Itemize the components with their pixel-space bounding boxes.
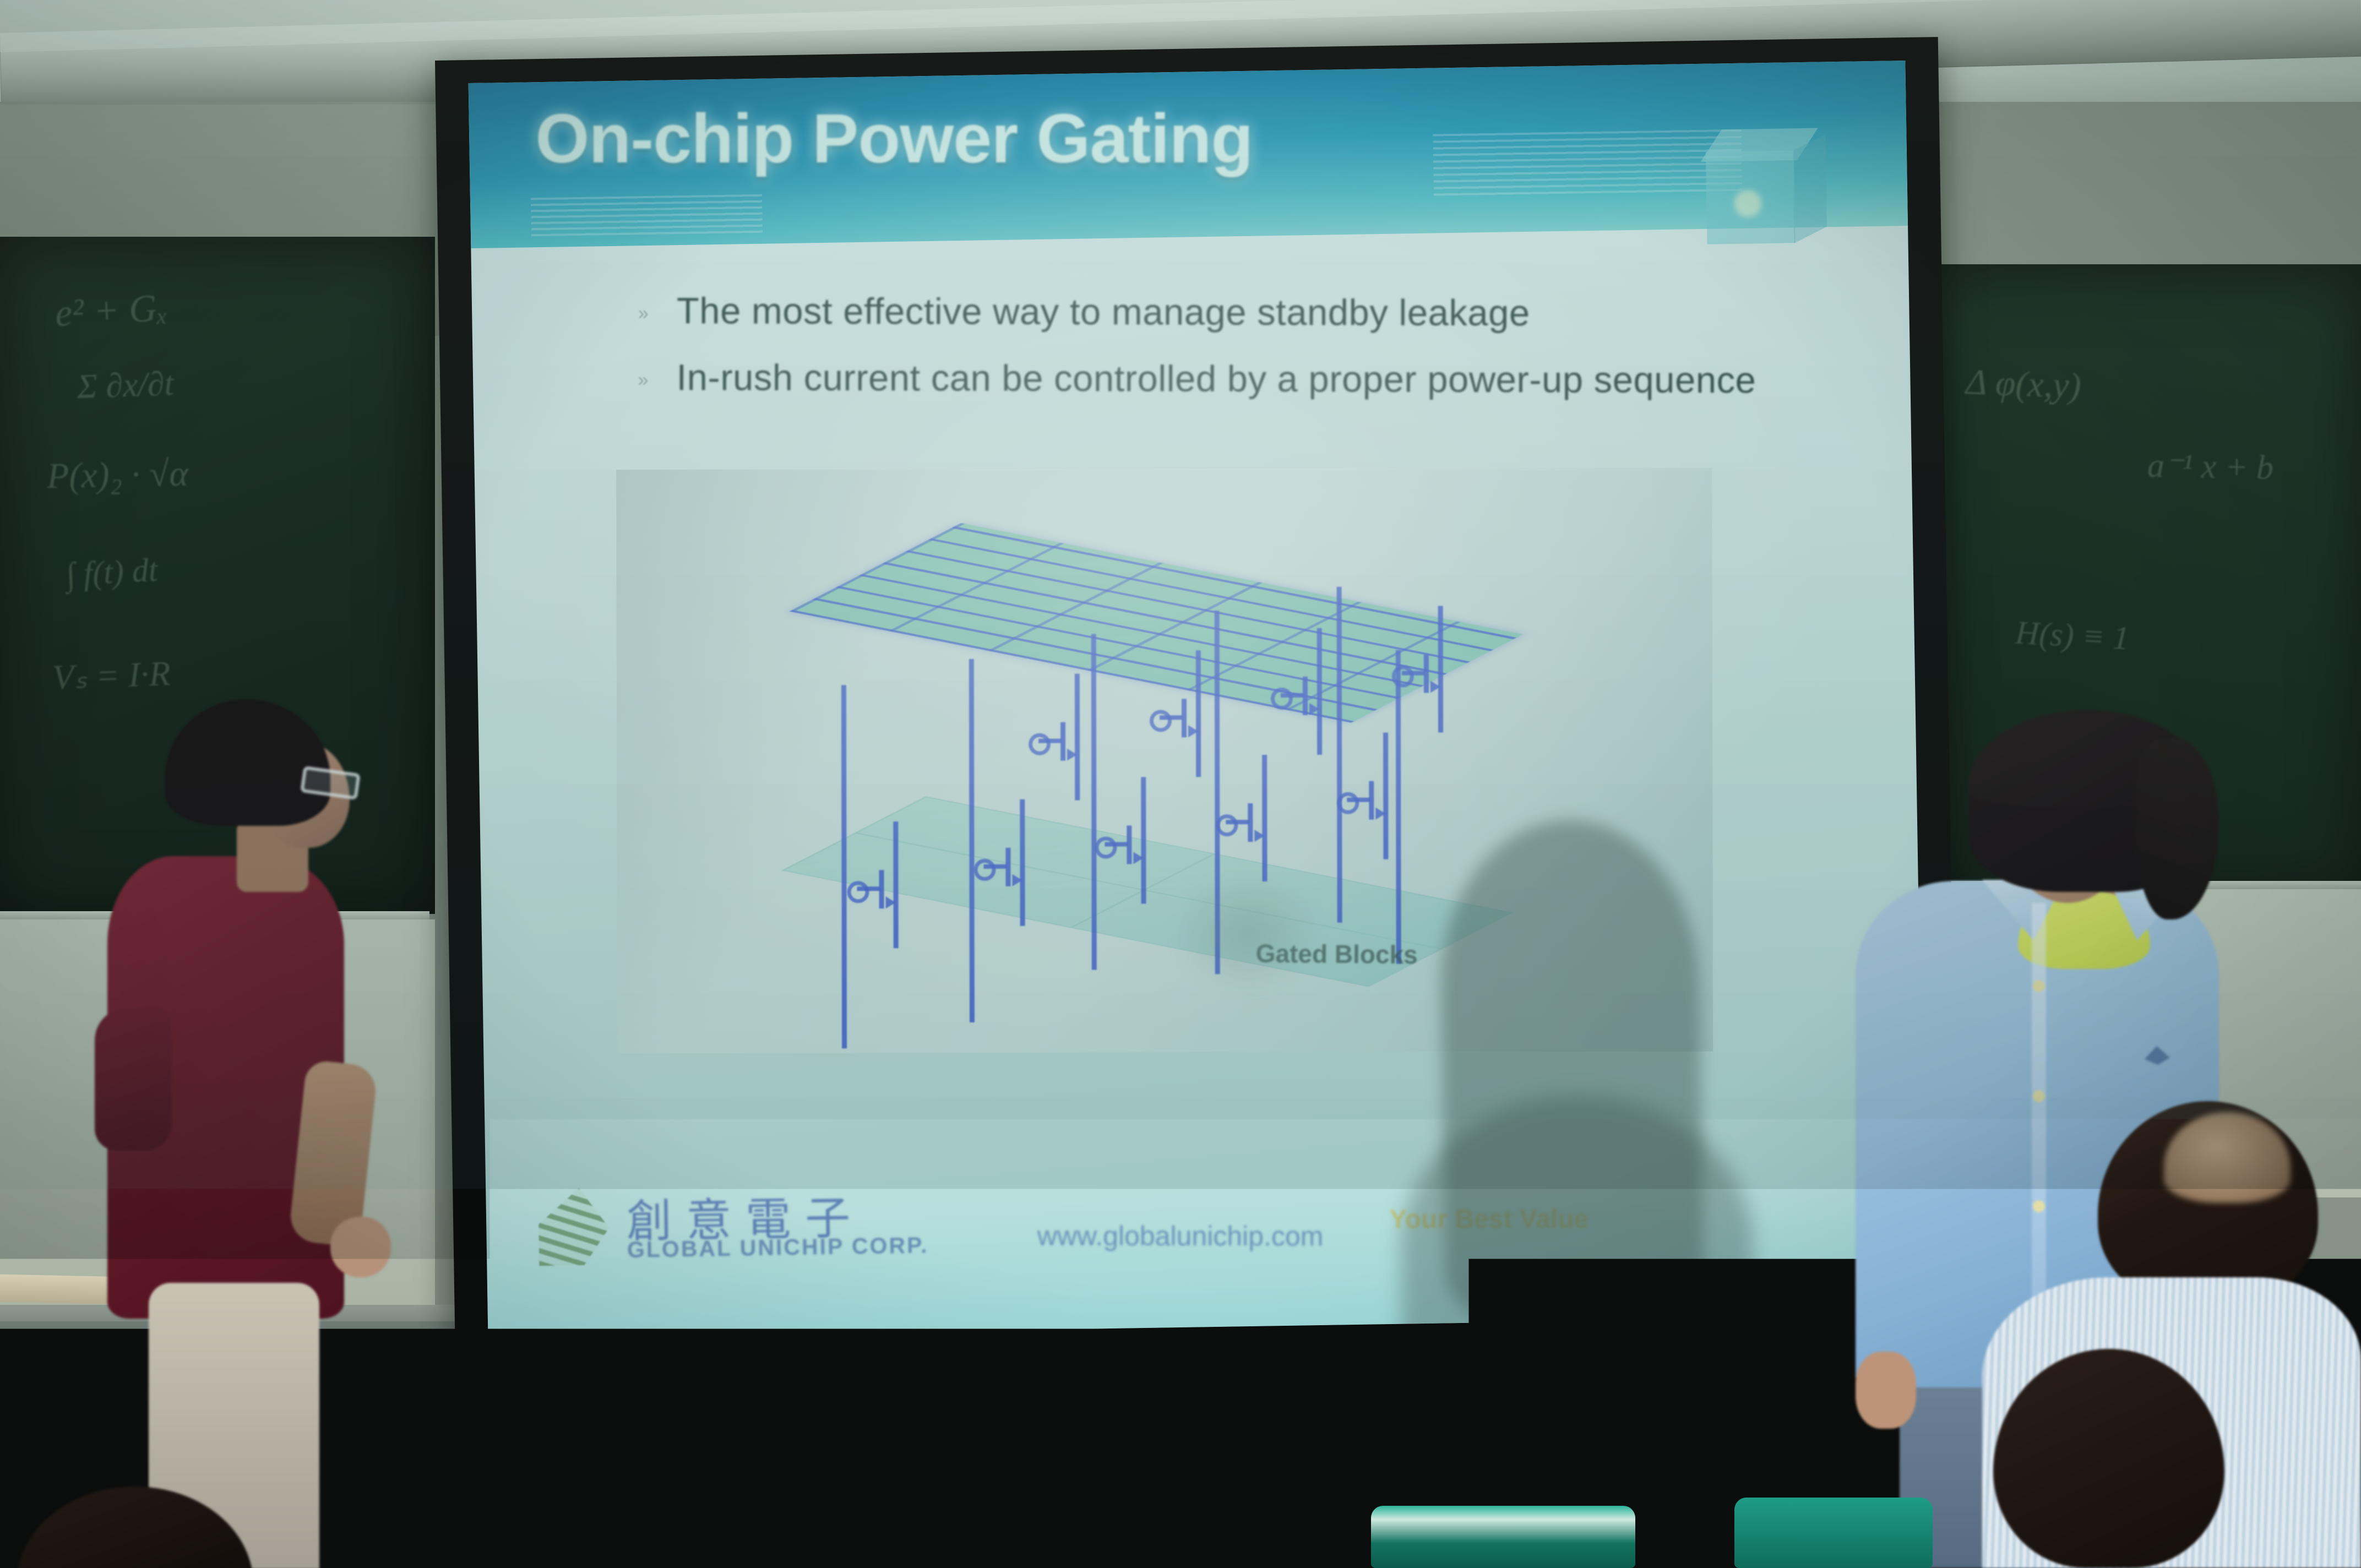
chalk-line: Vₛ = I·R xyxy=(52,653,171,698)
power-rail-drop xyxy=(969,659,975,1022)
company-name-en: GLOBAL UNICHIP CORP. xyxy=(627,1232,929,1263)
guc-logo-icon xyxy=(538,1188,610,1266)
power-switch-transistor xyxy=(980,799,1063,926)
lecture-hall-photo: e² + Gₓ Σ ∂x/∂t P(x)₂ · √α ∫ f(t) dt Vₛ … xyxy=(0,0,2361,1568)
power-switch-transistor xyxy=(1343,733,1426,859)
projection-screen-frame: On-chip Power Gating » The most effectiv… xyxy=(435,37,1959,1382)
bullet-marker-icon: » xyxy=(638,371,657,389)
cube-logo-icon xyxy=(1705,128,1845,257)
chalk-line: Σ ∂x/∂t xyxy=(77,364,175,407)
chair xyxy=(1030,1511,1266,1568)
header-hatch-left-icon xyxy=(531,194,763,237)
power-switch-transistor xyxy=(1222,755,1305,881)
power-rail-drop xyxy=(841,685,847,1048)
bullet-text: The most effective way to manage standby… xyxy=(677,290,1530,334)
power-switch-transistor xyxy=(853,821,936,948)
slide-title: On-chip Power Gating xyxy=(535,99,1253,178)
chalk-line: H(s) ≡ 1 xyxy=(2014,614,2130,658)
bullet-marker-icon: » xyxy=(638,304,657,323)
company-url: www.globalunichip.com xyxy=(1037,1220,1324,1253)
chalk-line: Δ φ(x,y) xyxy=(1965,361,2082,407)
bullet-item: » In-rush current can be controlled by a… xyxy=(638,356,1849,402)
screen-stand-foot xyxy=(405,1368,466,1391)
chalk-line: P(x)₂ · √α xyxy=(46,453,188,497)
bullet-text: In-rush current can be controlled by a p… xyxy=(676,356,1756,401)
chalk-line: a⁻¹ x + b xyxy=(2147,445,2273,488)
presentation-slide: On-chip Power Gating » The most effectiv… xyxy=(469,61,1925,1338)
chalk-line: ∫ f(t) dt xyxy=(65,551,159,594)
chair xyxy=(1371,1506,1635,1568)
header-hatch-right-icon xyxy=(1433,129,1742,200)
power-switch-transistor xyxy=(1399,606,1481,732)
chair xyxy=(1734,1498,1933,1568)
slide-bullet-list: » The most effective way to manage stand… xyxy=(638,290,1849,426)
bullet-item: » The most effective way to manage stand… xyxy=(638,290,1849,335)
chalk-line: e² + Gₓ xyxy=(54,286,169,336)
screen-smudge xyxy=(1169,868,1325,997)
